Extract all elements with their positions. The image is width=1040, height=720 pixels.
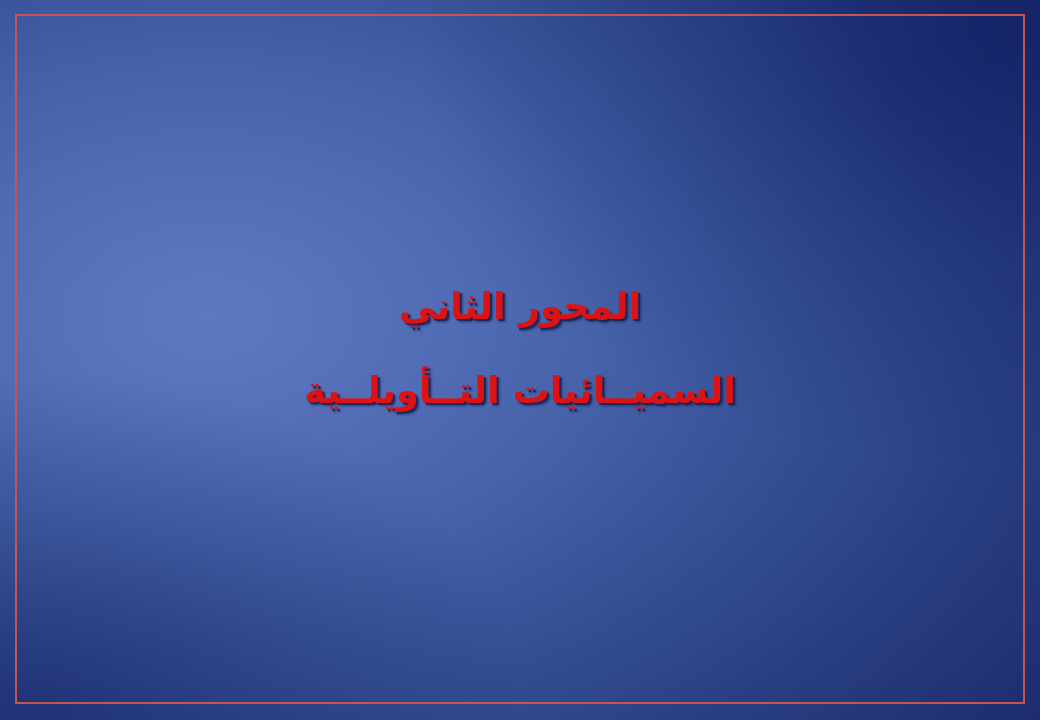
presentation-slide: المحور الثاني السميــائيات التــأويلــية [0, 0, 1040, 720]
slide-title-line-primary: المحور الثاني [0, 288, 1040, 325]
slide-title-block: المحور الثاني السميــائيات التــأويلــية [0, 288, 1040, 409]
slide-title-line-secondary: السميــائيات التــأويلــية [0, 372, 1040, 409]
